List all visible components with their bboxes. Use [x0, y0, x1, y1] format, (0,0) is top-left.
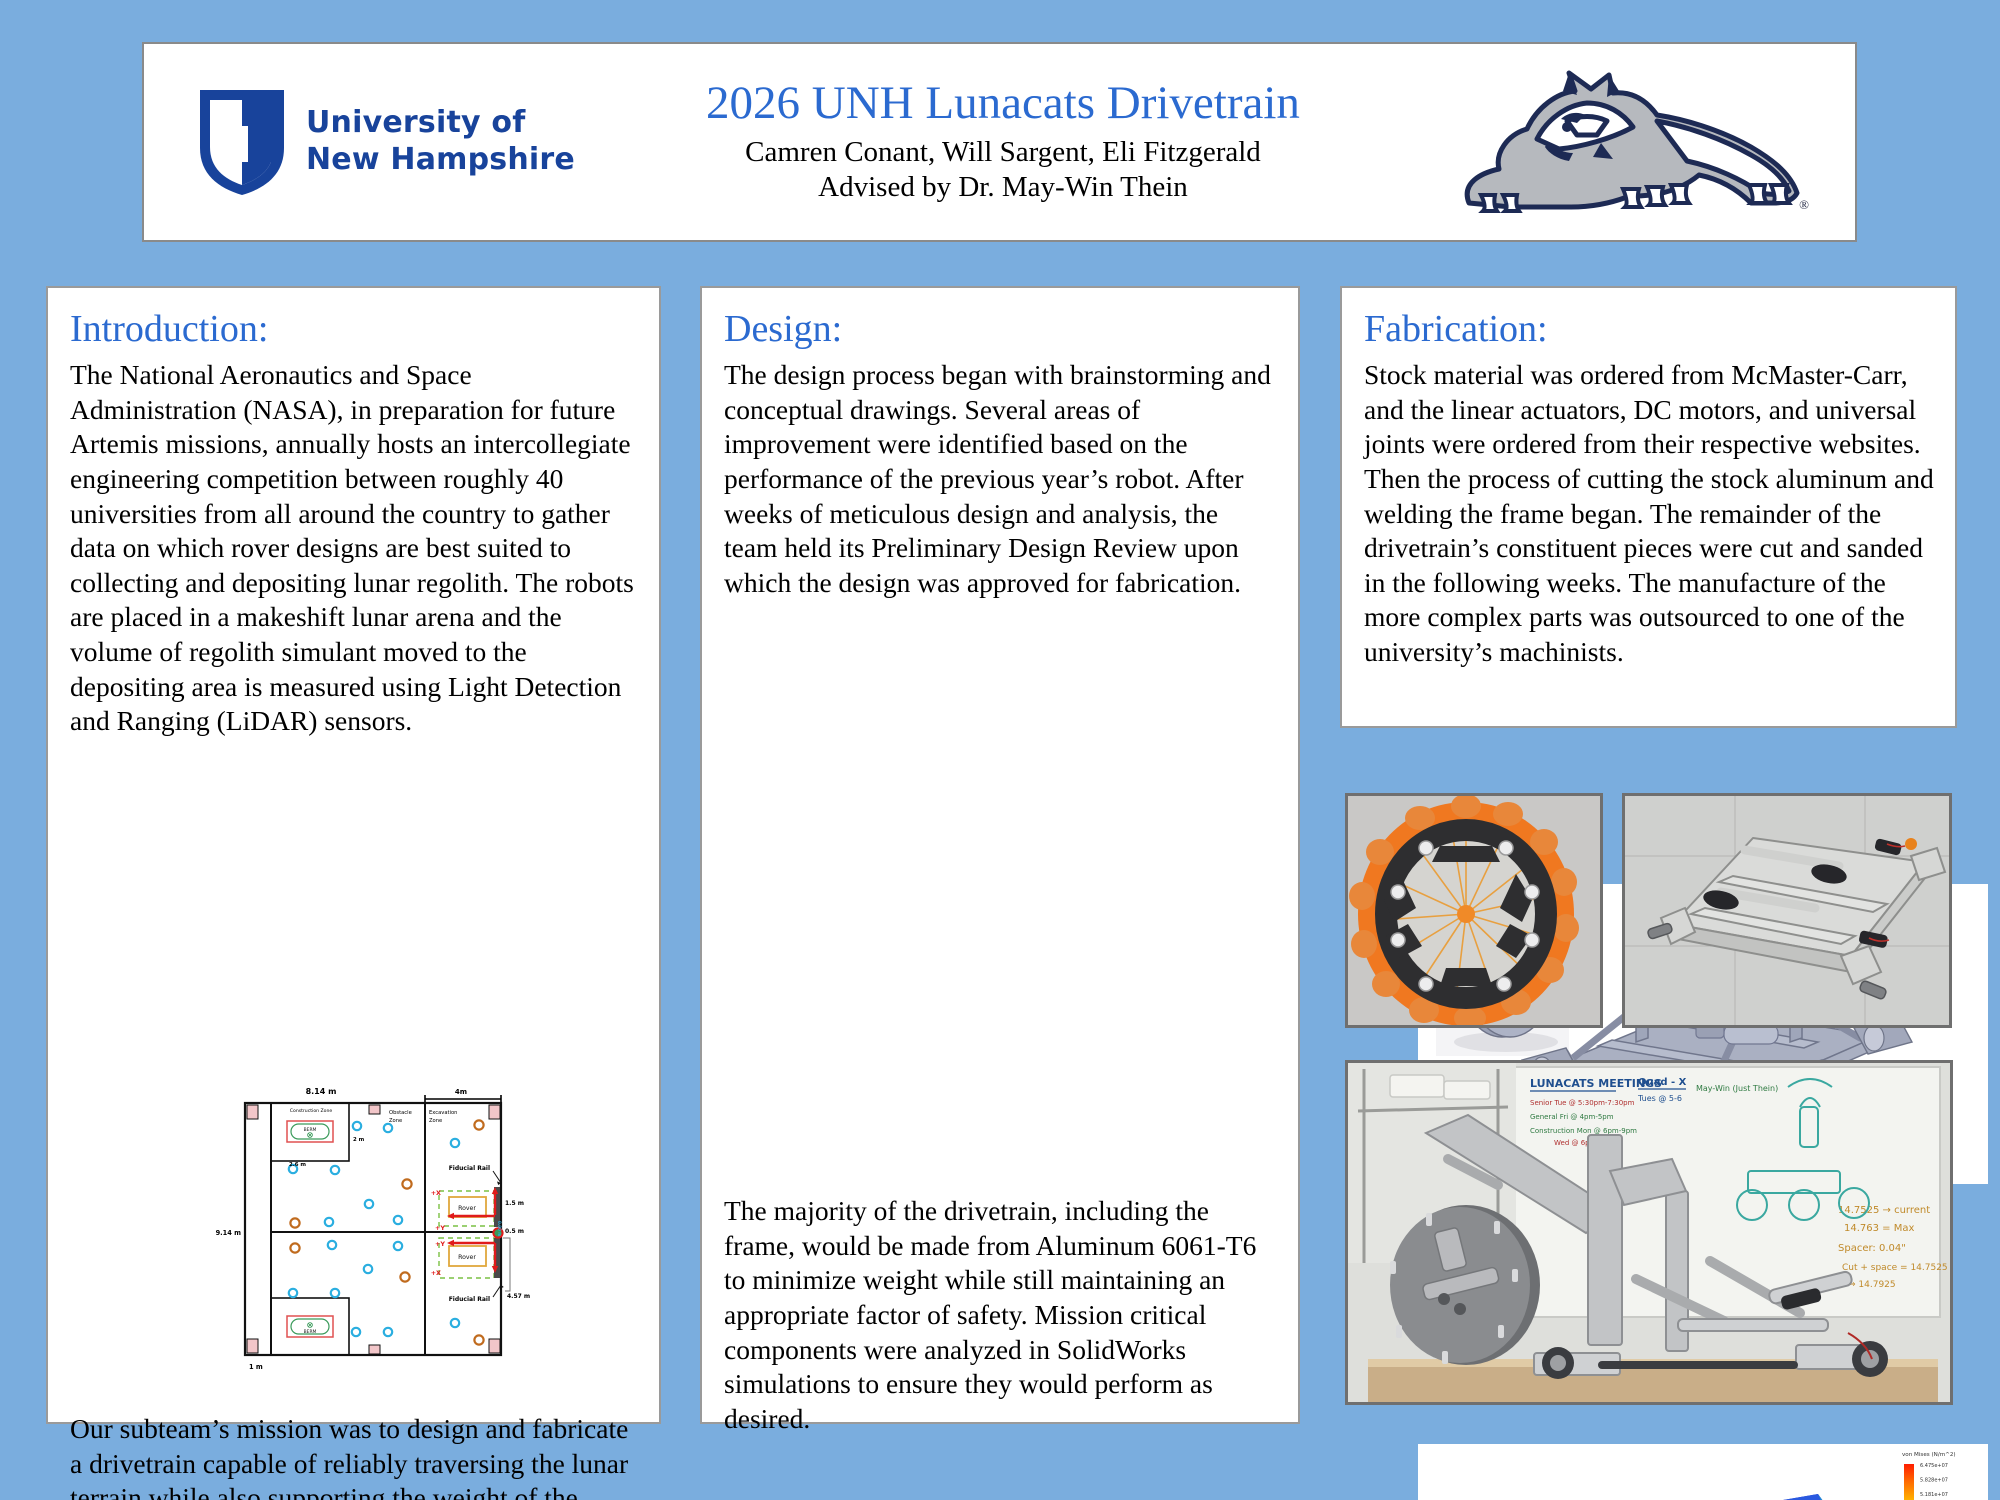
unh-shield-icon	[196, 86, 288, 198]
unh-wordmark-line2: New Hampshire	[306, 142, 575, 179]
whiteboard-line-1: Senior Tue @ 5:30pm-7:30pm	[1530, 1099, 1635, 1107]
whiteboard-quad-line: Tues @ 5-6	[1637, 1094, 1682, 1103]
photo-bench: LUNACATS MEETINGS Senior Tue @ 5:30pm-7:…	[1345, 1060, 1953, 1405]
fabrication-paragraph-1: Stock material was ordered from McMaster…	[1342, 352, 1955, 670]
arena-axis-y-bottom: +Y	[435, 1240, 445, 1248]
photo-frame	[1622, 793, 1952, 1028]
fea-legend-value-0: 6.475e+07	[1920, 1463, 1948, 1469]
arena-dim-bottom-left: 1 m	[249, 1363, 263, 1371]
whiteboard-quad-heading: Quad - X	[1638, 1077, 1687, 1088]
design-paragraph-1: The design process began with brainstorm…	[702, 352, 1298, 600]
whiteboard-line-2: General Fri @ 4pm-5pm	[1530, 1113, 1614, 1121]
panel-introduction: Introduction: The National Aeronautics a…	[46, 286, 661, 1424]
design-simulation-figure: von Mises (N/m^2)	[1418, 1444, 1988, 1500]
section-heading-fabrication: Fabrication:	[1342, 288, 1955, 352]
design-paragraph-2: The majority of the drivetrain, includin…	[702, 1188, 1298, 1436]
panel-design: Design: The design process began with br…	[700, 286, 1300, 1424]
unh-logo-lockup: University of New Hampshire	[196, 86, 575, 198]
arena-dim-left: 9.14 m	[216, 1229, 242, 1237]
arena-dim-inner-2m: 2 m	[353, 1137, 365, 1143]
arena-dim-inner-26m: 2.6 m	[289, 1162, 306, 1168]
arena-label-obstacle-zone-2: Zone	[389, 1118, 402, 1124]
arena-fiducial-rail-label-top: Fiducial Rail	[449, 1165, 490, 1172]
fea-legend-value-1: 5.828e+07	[1920, 1478, 1948, 1484]
panel-fabrication: Fabrication: Stock material was ordered …	[1340, 286, 1957, 728]
wildcat-mascot-icon: ®	[1451, 57, 1811, 227]
section-heading-introduction: Introduction:	[48, 288, 659, 352]
introduction-paragraph-2: Our subteam’s mission was to design and …	[48, 1410, 659, 1500]
whiteboard-advisor-note: May-Win (Just Thein)	[1696, 1084, 1778, 1093]
arena-diagram-figure: 8.14 m 4m	[213, 1083, 533, 1373]
arena-axis-x-bottom: +X	[431, 1269, 441, 1277]
poster-header: University of New Hampshire 2026 UNH Lun…	[142, 42, 1857, 242]
whiteboard-calc-1: 14.7525 → current	[1838, 1205, 1930, 1216]
introduction-paragraph-1: The National Aeronautics and Space Admin…	[48, 352, 659, 739]
arena-berm-label-bottom: BERM	[304, 1329, 317, 1335]
unh-wordmark-line1: University of	[306, 105, 575, 142]
arena-berm-label-top: BERM	[304, 1127, 317, 1133]
whiteboard-calc-5: ⇒ 14.7925	[1848, 1280, 1896, 1290]
arena-dim-15m: 1.5 m	[505, 1200, 524, 1207]
whiteboard-calc-2: 14.763 = Max	[1844, 1223, 1914, 1234]
arena-fiducial-rail-label-bottom: Fiducial Rail	[449, 1296, 490, 1303]
whiteboard-calc-3: Spacer: 0.04"	[1838, 1243, 1906, 1254]
whiteboard-calc-4: Cut + space = 14.7525	[1842, 1263, 1948, 1273]
fea-legend-value-2: 5.181e+07	[1920, 1492, 1948, 1498]
page-title: 2026 UNH Lunacats Drivetrain	[555, 78, 1451, 129]
arena-label-construction-zone: Construction Zone	[290, 1108, 333, 1114]
fea-legend-title: von Mises (N/m^2)	[1902, 1452, 1956, 1458]
poster-canvas: University of New Hampshire 2026 UNH Lun…	[0, 0, 2000, 1500]
author-list: Camren Conant, Will Sargent, Eli Fitzger…	[555, 135, 1451, 170]
arena-axis-x-top: +X	[431, 1189, 441, 1197]
unh-wordmark: University of New Hampshire	[306, 105, 575, 178]
arena-dim-top-left: 8.14 m	[306, 1087, 337, 1096]
arena-axis-y-top: +Y	[435, 1224, 445, 1232]
title-block: 2026 UNH Lunacats Drivetrain Camren Cona…	[555, 78, 1451, 206]
section-heading-design: Design:	[702, 288, 1298, 352]
arena-dim-457m: 4.57 m	[507, 1293, 530, 1300]
whiteboard-line-3: Construction Mon @ 6pm-9pm	[1530, 1127, 1637, 1135]
arena-label-excavation-zone-2: Zone	[429, 1118, 442, 1124]
arena-dim-rail-len: 0.00 m	[497, 1221, 502, 1236]
registered-trademark-icon: ®	[1799, 197, 1809, 213]
photo-wheel	[1345, 793, 1603, 1028]
arena-dim-05m: 0.5 m	[505, 1228, 524, 1235]
arena-dim-top-right: 4m	[455, 1088, 467, 1096]
arena-rover-label-bottom: Rover	[458, 1254, 476, 1261]
arena-rover-label-top: Rover	[458, 1205, 476, 1212]
arena-label-excavation-zone-1: Excavation	[429, 1110, 457, 1116]
arena-label-obstacle-zone-1: Obstacle	[389, 1110, 412, 1116]
advisor-line: Advised by Dr. May-Win Thein	[555, 170, 1451, 205]
